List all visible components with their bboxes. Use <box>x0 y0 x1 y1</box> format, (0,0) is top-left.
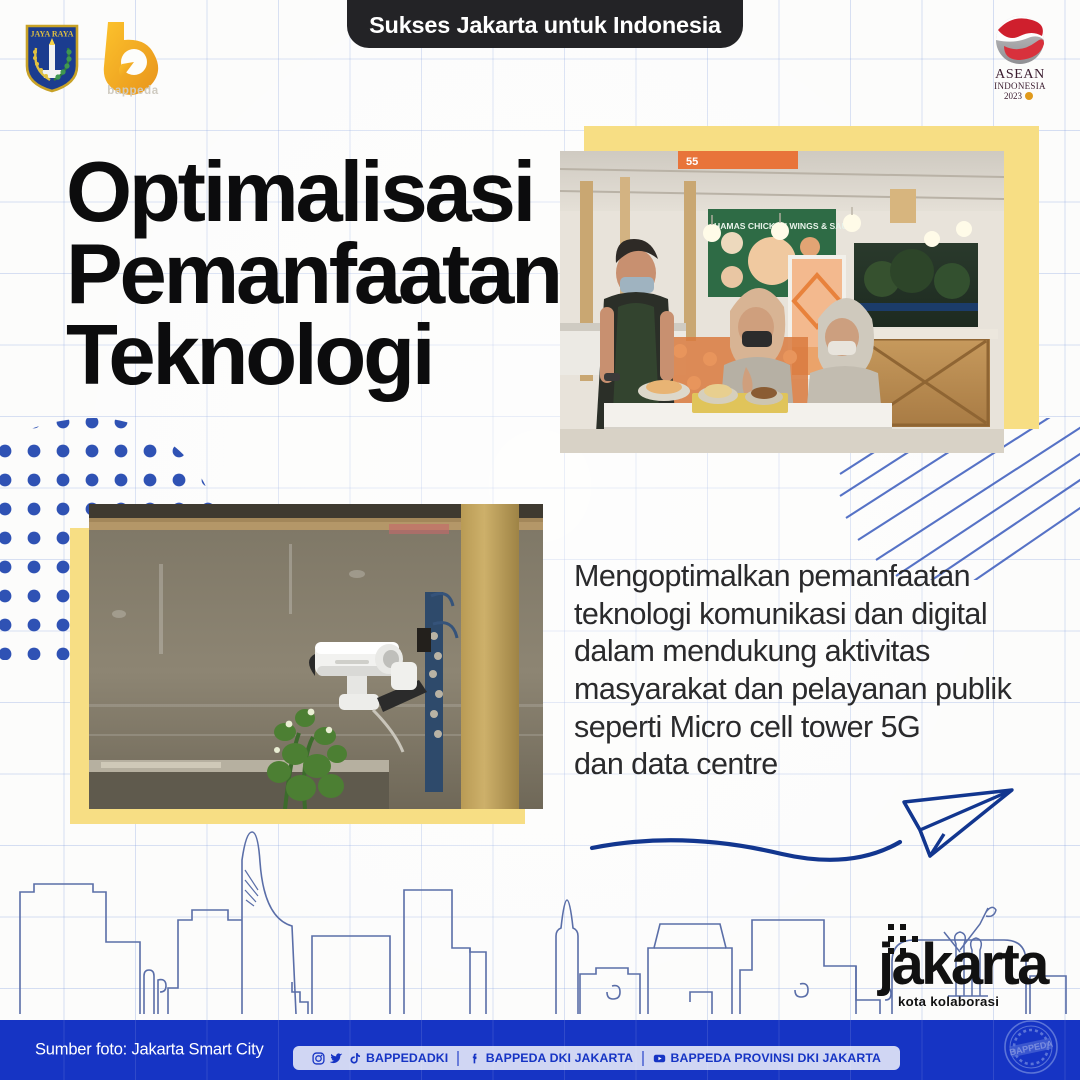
social-group-youtube[interactable]: BAPPEDA PROVINSI DKI JAKARTA <box>644 1051 891 1065</box>
body-line-6: dan data centre <box>574 746 1054 784</box>
svg-text:55: 55 <box>686 156 698 168</box>
body-line-4: masyarakat dan pelayanan publik <box>574 671 1054 709</box>
tiktok-icon[interactable] <box>348 1052 361 1065</box>
asean-year-text: 2023 <box>1004 91 1023 100</box>
facebook-icon[interactable] <box>468 1052 481 1065</box>
tagline-banner: Sukses Jakarta untuk Indonesia <box>347 0 743 48</box>
body-line-3: dalam mendukung aktivitas <box>574 633 1054 671</box>
dki-motto-text: JAYA RAYA <box>30 30 73 39</box>
asean-name-text: ASEAN <box>995 67 1045 82</box>
dki-jakarta-shield-logo: JAYA RAYA <box>24 22 80 94</box>
headline-line-1: Optimalisasi <box>66 152 586 234</box>
social-handle-facebook: BAPPEDA DKI JAKARTA <box>486 1051 633 1065</box>
body-paragraph: Mengoptimalkan pemanfaatan teknologi kom… <box>574 558 1054 784</box>
social-divider-2 <box>642 1051 643 1066</box>
page-title: Optimalisasi Pemanfaatan Teknologi <box>66 152 586 397</box>
bappeda-stamp-icon: BAPPEDA <box>996 1016 1066 1078</box>
headline-line-3: Teknologi <box>66 315 586 397</box>
bappeda-logo: bappeda <box>96 20 170 98</box>
body-line-5: seperti Micro cell tower 5G <box>574 709 1054 747</box>
asean-country-text: INDONESIA <box>994 81 1046 91</box>
jakarta-wordmark: jakarta <box>878 936 1047 994</box>
social-media-bar[interactable]: BAPPEDADKI BAPPEDA DKI JAKARTA BAPPEDA P… <box>293 1046 900 1070</box>
tagline-text: Sukses Jakarta untuk Indonesia <box>369 12 721 39</box>
twitter-icon[interactable] <box>330 1052 343 1065</box>
bottom-photo-cctv-camera <box>89 504 543 809</box>
social-group-facebook[interactable]: BAPPEDA DKI JAKARTA <box>459 1051 642 1065</box>
top-photo-food-stall: 55 HAMAS CHICKEN WINGS & SAUCE <box>560 151 1004 453</box>
photo-source-credit: Sumber foto: Jakarta Smart City <box>35 1041 264 1060</box>
bappeda-wordmark-text: bappeda <box>107 85 159 97</box>
asean-indonesia-2023-logo: ASEAN INDONESIA 2023 <box>984 12 1056 100</box>
social-handle-youtube: BAPPEDA PROVINSI DKI JAKARTA <box>671 1051 882 1065</box>
instagram-icon[interactable] <box>312 1052 325 1065</box>
headline-line-2: Pemanfaatan <box>66 234 586 316</box>
body-line-1: Mengoptimalkan pemanfaatan <box>574 558 1054 596</box>
social-group-instagram-twitter-tiktok[interactable]: BAPPEDADKI <box>303 1051 457 1065</box>
youtube-icon[interactable] <box>653 1052 666 1065</box>
social-handle-instagram: BAPPEDADKI <box>366 1051 448 1065</box>
body-line-2: teknologi komunikasi dan digital <box>574 596 1054 634</box>
jakarta-city-logo: jakarta kota kolaborasi <box>868 922 1054 1008</box>
poster-canvas: 55 HAMAS CHICKEN WINGS & SAUCE <box>0 0 1080 1080</box>
social-divider-1 <box>457 1051 458 1066</box>
jakarta-tagline: kota kolaborasi <box>898 994 999 1009</box>
